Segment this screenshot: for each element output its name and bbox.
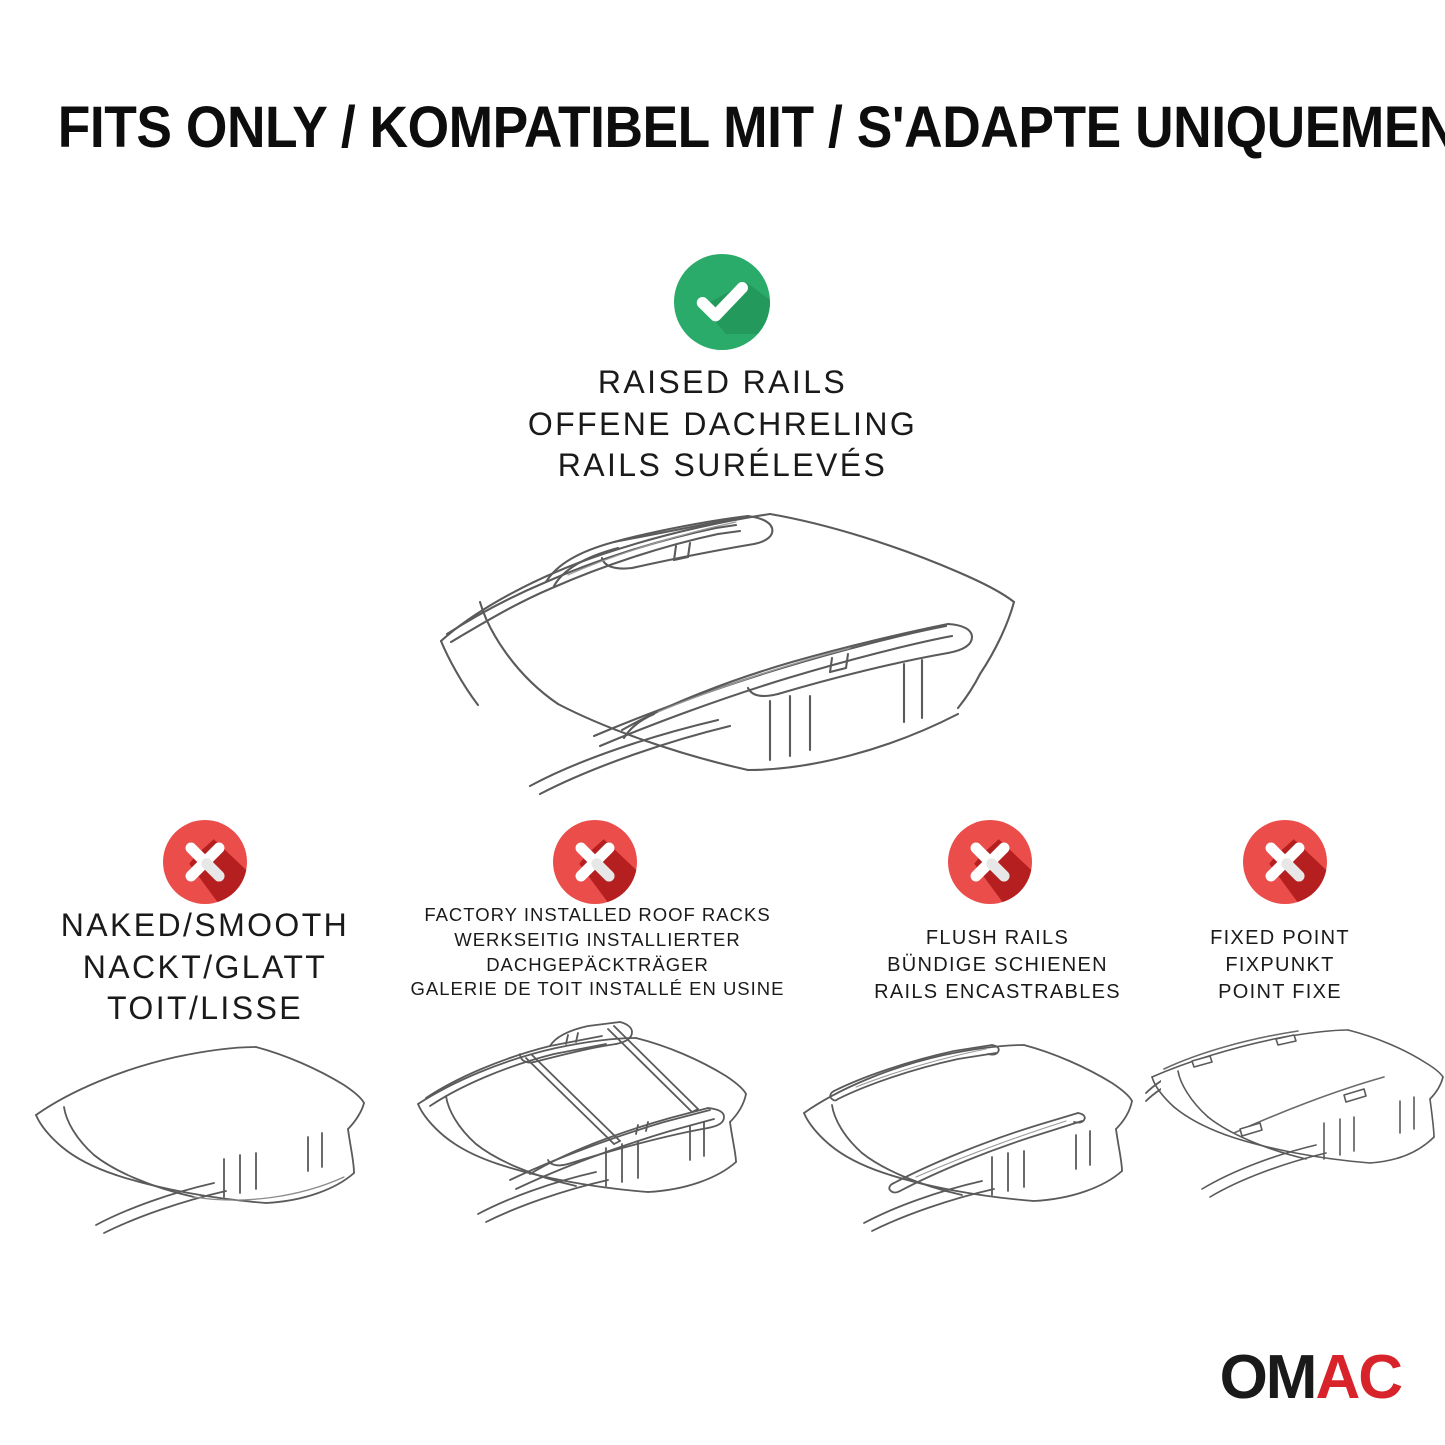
- caption-line: FIXED POINT: [1130, 925, 1430, 952]
- car-roof-raised-rails-illustration: [418, 498, 1028, 798]
- car-roof-fixed-point-illustration: [1148, 1025, 1445, 1240]
- compatible-line-2: OFFENE DACHRELING: [0, 404, 1445, 446]
- caption-line: FLUSH RAILS: [825, 925, 1170, 952]
- infographic-canvas: FITS ONLY / KOMPATIBEL MIT / S'ADAPTE UN…: [0, 0, 1445, 1445]
- omac-logo: OMAC: [1220, 1347, 1401, 1409]
- logo-part-dark: OM: [1220, 1343, 1316, 1412]
- compatible-line-3: RAILS SURÉLEVÉS: [0, 445, 1445, 487]
- incompatible-caption-factory-racks: FACTORY INSTALLED ROOF RACKS WERKSEITIG …: [355, 903, 840, 1002]
- caption-line: NAKED/SMOOTH: [25, 905, 385, 947]
- caption-line: BÜNDIGE SCHIENEN: [825, 952, 1170, 979]
- page-title: FITS ONLY / KOMPATIBEL MIT / S'ADAPTE UN…: [58, 98, 1387, 159]
- red-x-circle-icon-flush-rails: [948, 820, 1032, 904]
- caption-line: POINT FIXE: [1130, 979, 1430, 1006]
- car-roof-factory-racks-illustration: [398, 1012, 773, 1242]
- caption-line: DACHGEPÄCKTRÄGER: [355, 953, 840, 978]
- red-x-circle-icon-factory-racks: [553, 820, 637, 904]
- caption-line: WERKSEITIG INSTALLIERTER: [355, 928, 840, 953]
- caption-line: FIXPUNKT: [1130, 952, 1430, 979]
- incompatible-caption-flush-rails: FLUSH RAILS BÜNDIGE SCHIENEN RAILS ENCAS…: [825, 925, 1170, 1005]
- logo-part-red: AC: [1315, 1343, 1401, 1412]
- caption-line: RAILS ENCASTRABLES: [825, 979, 1170, 1006]
- car-roof-naked-smooth-illustration: [18, 1025, 378, 1240]
- caption-line: NACKT/GLATT: [25, 947, 385, 989]
- caption-line: GALERIE DE TOIT INSTALLÉ EN USINE: [355, 977, 840, 1002]
- incompatible-caption-fixed-point: FIXED POINT FIXPUNKT POINT FIXE: [1130, 925, 1430, 1005]
- compatible-line-1: RAISED RAILS: [0, 362, 1445, 404]
- incompatible-caption-naked-smooth: NAKED/SMOOTH NACKT/GLATT TOIT/LISSE: [25, 905, 385, 1030]
- green-check-circle-icon: [674, 254, 770, 350]
- caption-line: TOIT/LISSE: [25, 988, 385, 1030]
- red-x-circle-icon-naked-smooth: [163, 820, 247, 904]
- red-x-circle-icon-fixed-point: [1243, 820, 1327, 904]
- caption-line: FACTORY INSTALLED ROOF RACKS: [355, 903, 840, 928]
- car-roof-flush-rails-illustration: [786, 1025, 1161, 1240]
- compatible-caption: RAISED RAILS OFFENE DACHRELING RAILS SUR…: [0, 362, 1445, 487]
